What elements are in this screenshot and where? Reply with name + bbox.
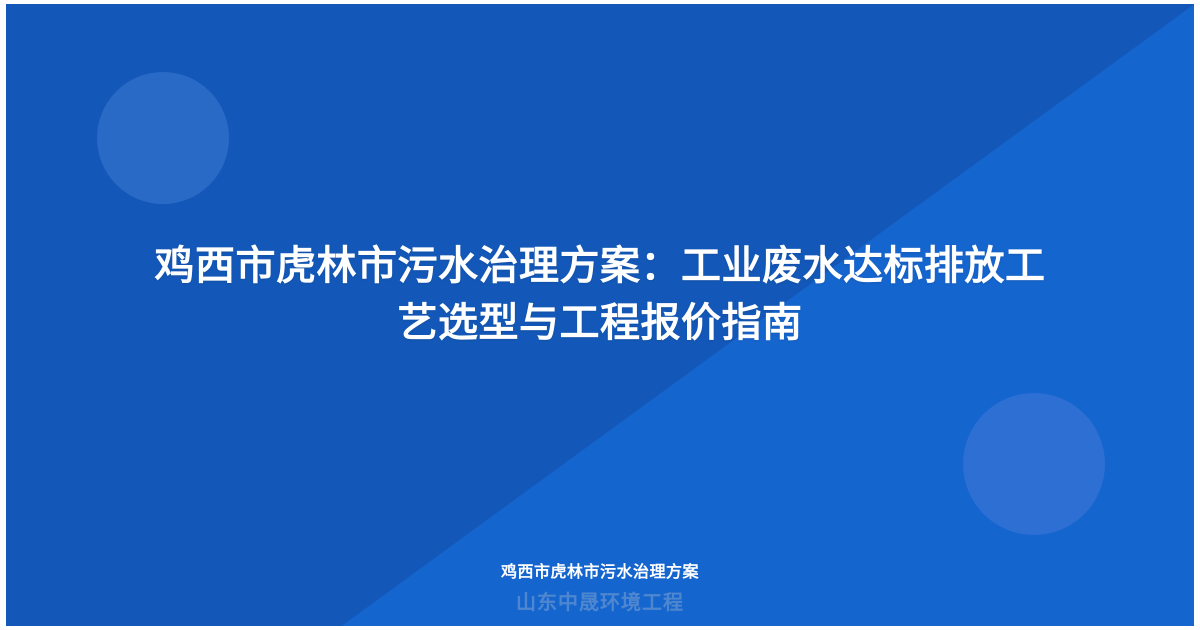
page-edge-top	[0, 0, 1200, 4]
footer-company-name: 山东中晟环境工程	[0, 588, 1200, 618]
page-edge-right	[1194, 0, 1200, 630]
page-edge-left	[0, 0, 6, 630]
slide-canvas: 鸡西市虎林市污水治理方案：工业废水达标排放工艺选型与工程报价指南 鸡西市虎林市污…	[0, 0, 1200, 630]
title-block: 鸡西市虎林市污水治理方案：工业废水达标排放工艺选型与工程报价指南	[0, 0, 1200, 630]
slide-footer: 鸡西市虎林市污水治理方案 山东中晟环境工程	[0, 558, 1200, 618]
slide-title: 鸡西市虎林市污水治理方案：工业废水达标排放工艺选型与工程报价指南	[135, 238, 1065, 352]
footer-caption: 鸡西市虎林市污水治理方案	[0, 558, 1200, 588]
page-edge-bottom	[0, 626, 1200, 630]
